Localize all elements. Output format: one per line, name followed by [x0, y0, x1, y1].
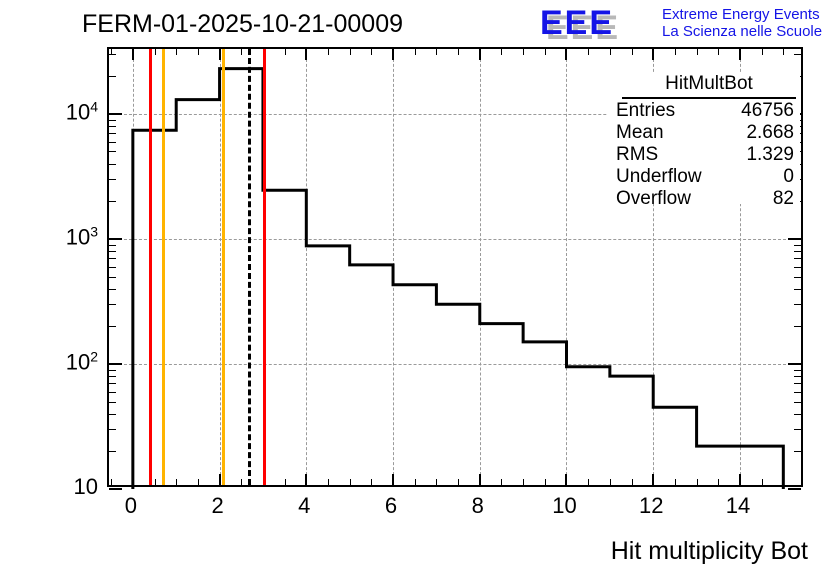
statistics-rows: Entries46756Mean2.668RMS1.329Underflow0O…	[608, 100, 800, 210]
page-title: FERM-01-2025-10-21-00009	[82, 10, 403, 39]
y-axis-tick-exponent: 2	[90, 348, 98, 364]
plot-canvas: FERM-01-2025-10-21-00009 EEE EEE Extreme…	[0, 0, 836, 572]
eee-logo-line1: Extreme Energy Events	[662, 6, 822, 23]
eee-logo-mark: EEE EEE	[540, 6, 658, 40]
y-axis-tick-label-text: 10	[74, 474, 98, 499]
marker-line-red-high	[263, 49, 266, 485]
eee-logo-mark-front: EEE	[540, 6, 614, 40]
statistics-value: 0	[783, 166, 794, 188]
marker-line-orange-high	[222, 49, 225, 485]
y-axis-tick-exponent: 4	[90, 98, 98, 114]
x-axis-tick-label: 4	[298, 493, 310, 519]
statistics-row: Underflow0	[608, 166, 800, 188]
eee-logo: EEE EEE Extreme Energy Events La Scienza…	[540, 4, 832, 44]
y-axis-tick-label: 103	[30, 223, 98, 250]
x-axis-title: Hit multiplicity Bot	[611, 537, 808, 566]
x-axis-tick-label: 10	[552, 493, 576, 519]
statistics-row: RMS1.329	[608, 144, 800, 166]
statistics-key: Entries	[616, 100, 675, 122]
statistics-key: Mean	[616, 122, 664, 144]
statistics-value: 82	[773, 188, 794, 210]
y-axis-tick-label-text: 10	[66, 99, 90, 124]
statistics-key: Overflow	[616, 188, 691, 210]
x-axis-tick-label: 14	[726, 493, 750, 519]
eee-logo-line2: La Scienza nelle Scuole	[662, 23, 822, 40]
marker-line-orange-low	[162, 49, 165, 485]
statistics-box: HitMultBot Entries46756Mean2.668RMS1.329…	[608, 72, 800, 204]
marker-line-red-low	[149, 49, 152, 485]
statistics-row: Mean2.668	[608, 122, 800, 144]
x-axis-tick-label: 12	[639, 493, 663, 519]
y-axis-tick-exponent: 3	[90, 223, 98, 239]
y-axis-tick-label-text: 10	[66, 350, 90, 375]
y-axis-tick-label: 102	[30, 348, 98, 375]
statistics-value: 46756	[741, 100, 794, 122]
marker-line-mean	[248, 49, 251, 485]
eee-logo-text: Extreme Energy Events La Scienza nelle S…	[662, 6, 822, 40]
x-axis-tick-label: 2	[211, 493, 223, 519]
statistics-value: 1.329	[746, 144, 794, 166]
y-axis-tick-label-text: 10	[66, 225, 90, 250]
y-axis-tick-label: 10	[30, 474, 98, 500]
statistics-row: Overflow82	[608, 188, 800, 210]
x-axis-tick-label: 6	[385, 493, 397, 519]
y-axis-tick-label: 104	[30, 98, 98, 125]
statistics-value: 2.668	[746, 122, 794, 144]
x-axis-tick-label: 0	[125, 493, 137, 519]
statistics-row: Entries46756	[608, 100, 800, 122]
statistics-title: HitMultBot	[622, 72, 796, 99]
statistics-key: Underflow	[616, 166, 702, 188]
x-axis-tick-label: 8	[472, 493, 484, 519]
statistics-key: RMS	[616, 144, 658, 166]
